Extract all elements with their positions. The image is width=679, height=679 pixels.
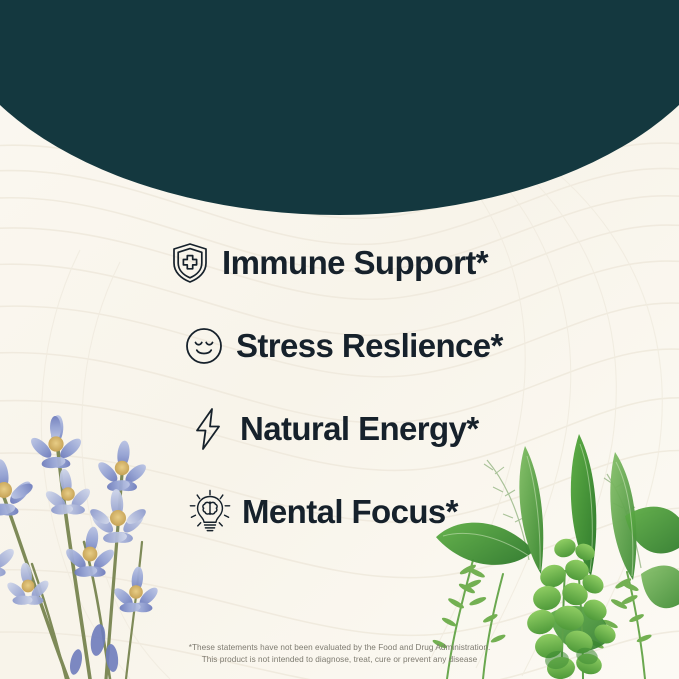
benefit-label: Stress Reslience* — [236, 327, 503, 365]
fda-disclaimer: *These statements have not been evaluate… — [0, 642, 679, 665]
shield-cross-icon — [168, 241, 212, 285]
benefit-item-stress-reslience: Stress Reslience* — [0, 315, 679, 377]
disclaimer-line-2: This product is not intended to diagnose… — [0, 654, 679, 665]
benefit-item-mental-focus: Mental Focus* — [0, 481, 679, 543]
benefit-label: Natural Energy* — [240, 410, 479, 448]
benefit-label: Mental Focus* — [242, 493, 458, 531]
benefit-label: Immune Support* — [222, 244, 488, 282]
lightning-bolt-icon — [186, 407, 230, 451]
header-banner: Key Benefits This supplement may aid wit… — [0, 0, 679, 215]
key-benefits-graphic: Key Benefits This supplement may aid wit… — [0, 0, 679, 679]
benefit-item-natural-energy: Natural Energy* — [0, 398, 679, 460]
smiley-face-icon — [182, 324, 226, 368]
benefit-item-immune-support: Immune Support* — [0, 232, 679, 294]
lightbulb-brain-icon — [188, 490, 232, 534]
benefits-list: Immune Support* Stress Reslience* Nat — [0, 232, 679, 564]
disclaimer-line-1: *These statements have not been evaluate… — [0, 642, 679, 653]
